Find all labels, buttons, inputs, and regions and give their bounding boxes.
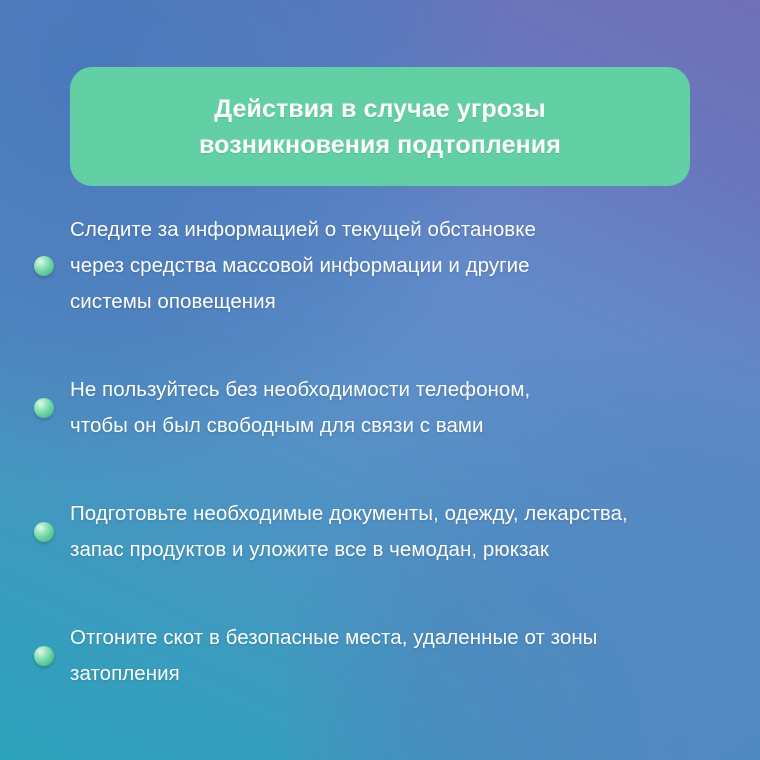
list-item-line: Не пользуйтесь без необходимости телефон…	[70, 372, 530, 408]
flood-safety-poster: Действия в случае угрозы возникновения п…	[0, 0, 760, 760]
green-sphere-bullet-icon	[34, 256, 54, 276]
list-item-line: Отгоните скот в безопасные места, удален…	[70, 620, 597, 656]
header-title-line-1: Действия в случае угрозы	[214, 91, 545, 127]
list-item-line: запас продуктов и уложите все в чемодан,…	[70, 532, 628, 568]
list-item-text: Не пользуйтесь без необходимости телефон…	[70, 372, 530, 444]
list-item-text: Отгоните скот в безопасные места, удален…	[70, 620, 597, 692]
list-item: Подготовьте необходимые документы, одежд…	[0, 496, 760, 568]
list-item-text: Следите за информацией о текущей обстано…	[70, 212, 536, 320]
list-item: Не пользуйтесь без необходимости телефон…	[0, 372, 760, 444]
green-sphere-bullet-icon	[34, 646, 54, 666]
list-item-line: затопления	[70, 656, 597, 692]
list-item-line: чтобы он был свободным для связи с вами	[70, 408, 530, 444]
header-title-line-2: возникновения подтопления	[199, 127, 561, 163]
list-item-line: через средства массовой информации и дру…	[70, 248, 536, 284]
green-sphere-bullet-icon	[34, 522, 54, 542]
header-card: Действия в случае угрозы возникновения п…	[70, 67, 690, 186]
poster-content: Действия в случае угрозы возникновения п…	[0, 0, 760, 760]
list-item-line: Подготовьте необходимые документы, одежд…	[70, 496, 628, 532]
list-item: Следите за информацией о текущей обстано…	[0, 212, 760, 320]
list-item: Отгоните скот в безопасные места, удален…	[0, 620, 760, 692]
list-item-text: Подготовьте необходимые документы, одежд…	[70, 496, 628, 568]
list-item-line: Следите за информацией о текущей обстано…	[70, 212, 536, 248]
green-sphere-bullet-icon	[34, 398, 54, 418]
list-item-line: системы оповещения	[70, 284, 536, 320]
recommendation-list: Следите за информацией о текущей обстано…	[0, 212, 760, 692]
